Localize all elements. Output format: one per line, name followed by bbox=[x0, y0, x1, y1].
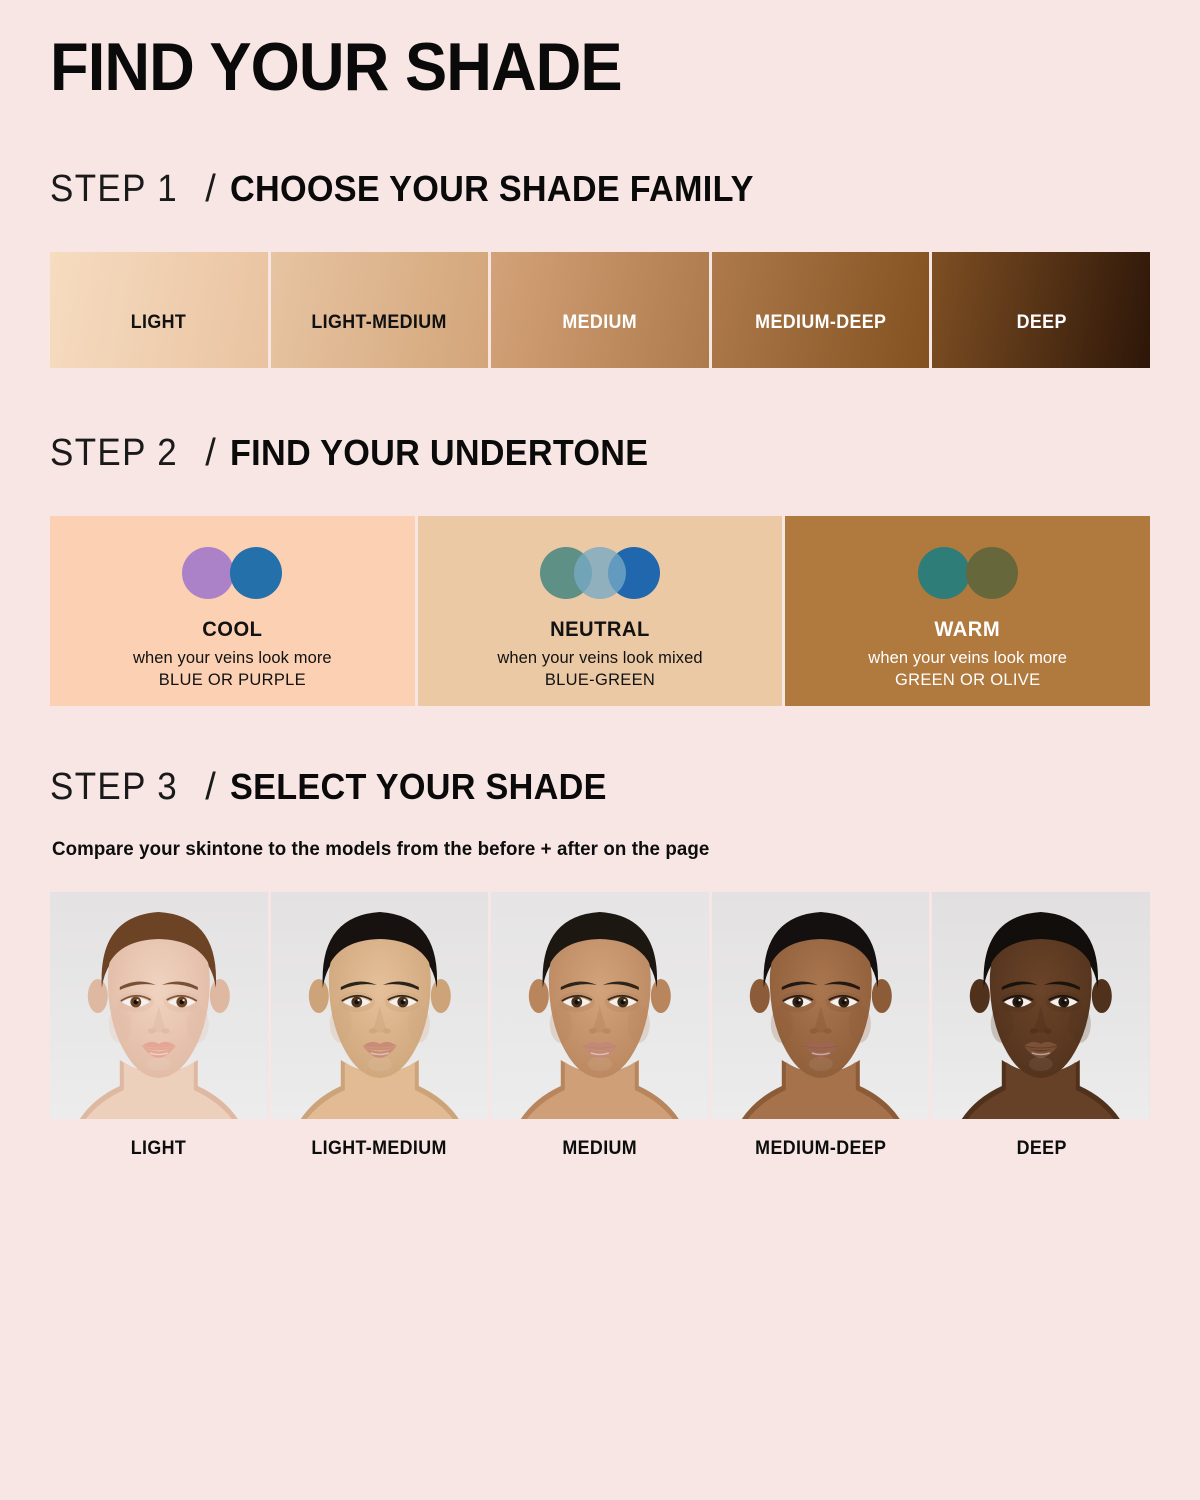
model-photo-light bbox=[50, 892, 268, 1119]
undertone-card-neutral[interactable]: NEUTRAL when your veins look mixed BLUE-… bbox=[418, 516, 783, 706]
shade-swatch-label: MEDIUM-DEEP bbox=[755, 312, 886, 334]
step-3-subtitle: Compare your skintone to the models from… bbox=[52, 838, 709, 861]
shade-swatch-medium[interactable]: MEDIUM bbox=[491, 252, 709, 368]
model-label: LIGHT bbox=[131, 1138, 186, 1160]
model-photo-medium-deep bbox=[712, 892, 930, 1119]
undertone-card-cool[interactable]: COOL when your veins look more BLUE OR P… bbox=[50, 516, 415, 706]
step-1-separator: / bbox=[205, 168, 216, 211]
vein-color-dot-blue bbox=[230, 547, 282, 599]
step-3-title: SELECT YOUR SHADE bbox=[230, 766, 607, 808]
model-cell-deep[interactable]: DEEP bbox=[932, 892, 1150, 1160]
step-2-separator: / bbox=[205, 432, 216, 475]
model-cell-light[interactable]: LIGHT bbox=[50, 892, 268, 1160]
model-label: MEDIUM-DEEP bbox=[755, 1138, 886, 1160]
model-cell-medium[interactable]: MEDIUM bbox=[491, 892, 709, 1160]
undertone-name: COOL bbox=[202, 618, 262, 642]
vein-color-dot-teal bbox=[918, 547, 970, 599]
vein-color-dot-purple bbox=[182, 547, 234, 599]
shade-swatch-light[interactable]: LIGHT bbox=[50, 252, 268, 368]
undertone-desc-line-2: BLUE OR PURPLE bbox=[133, 670, 332, 692]
step-1-title: CHOOSE YOUR SHADE FAMILY bbox=[230, 168, 754, 210]
undertone-desc-line-1: when your veins look more bbox=[868, 649, 1067, 667]
step-2-heading: STEP 2 / FIND YOUR UNDERTONE bbox=[50, 432, 670, 475]
undertone-name: WARM bbox=[935, 618, 1001, 642]
step-2-number: STEP 2 bbox=[50, 432, 178, 475]
undertone-cards: COOL when your veins look more BLUE OR P… bbox=[50, 516, 1150, 706]
undertone-desc-line-2: BLUE-GREEN bbox=[497, 670, 702, 692]
step-3-number: STEP 3 bbox=[50, 766, 178, 809]
undertone-description: when your veins look more BLUE OR PURPLE bbox=[133, 648, 332, 692]
shade-swatch-label: LIGHT-MEDIUM bbox=[312, 312, 447, 334]
step-3-separator: / bbox=[205, 766, 216, 809]
step-1-number: STEP 1 bbox=[50, 168, 178, 211]
vein-color-dot-blend bbox=[574, 547, 626, 599]
undertone-card-warm[interactable]: WARM when your veins look more GREEN OR … bbox=[785, 516, 1150, 706]
find-your-shade-page: FIND YOUR SHADE STEP 1 / CHOOSE YOUR SHA… bbox=[0, 0, 1200, 1500]
step-2-title: FIND YOUR UNDERTONE bbox=[230, 432, 648, 474]
step-3-heading: STEP 3 / SELECT YOUR SHADE bbox=[50, 766, 626, 809]
model-photo-medium bbox=[491, 892, 709, 1119]
shade-swatch-medium-deep[interactable]: MEDIUM-DEEP bbox=[712, 252, 930, 368]
undertone-dots bbox=[182, 536, 282, 610]
undertone-desc-line-2: GREEN OR OLIVE bbox=[868, 670, 1067, 692]
model-photo-deep bbox=[932, 892, 1150, 1119]
model-label: LIGHT-MEDIUM bbox=[312, 1138, 447, 1160]
step-1-heading: STEP 1 / CHOOSE YOUR SHADE FAMILY bbox=[50, 168, 781, 211]
model-photo-light-medium bbox=[271, 892, 489, 1119]
shade-family-bar: LIGHT LIGHT-MEDIUM MEDIUM MEDIUM-DEEP DE… bbox=[50, 252, 1150, 368]
undertone-desc-line-1: when your veins look more bbox=[133, 649, 332, 667]
shade-swatch-label: DEEP bbox=[1016, 312, 1066, 334]
shade-swatch-deep[interactable]: DEEP bbox=[932, 252, 1150, 368]
undertone-description: when your veins look mixed BLUE-GREEN bbox=[497, 648, 702, 692]
shade-swatch-label: LIGHT bbox=[131, 312, 186, 334]
undertone-description: when your veins look more GREEN OR OLIVE bbox=[868, 648, 1067, 692]
undertone-dots bbox=[918, 536, 1018, 610]
page-title: FIND YOUR SHADE bbox=[50, 33, 622, 101]
model-label: DEEP bbox=[1016, 1138, 1066, 1160]
model-label: MEDIUM bbox=[563, 1138, 638, 1160]
undertone-dots bbox=[540, 536, 660, 610]
model-cell-medium-deep[interactable]: MEDIUM-DEEP bbox=[712, 892, 930, 1160]
shade-swatch-light-medium[interactable]: LIGHT-MEDIUM bbox=[271, 252, 489, 368]
shade-swatch-label: MEDIUM bbox=[563, 312, 638, 334]
model-cell-light-medium[interactable]: LIGHT-MEDIUM bbox=[271, 892, 489, 1160]
undertone-name: NEUTRAL bbox=[550, 618, 650, 642]
model-shade-row: LIGHT bbox=[50, 892, 1150, 1160]
undertone-desc-line-1: when your veins look mixed bbox=[497, 649, 702, 667]
vein-color-dot-olive bbox=[966, 547, 1018, 599]
